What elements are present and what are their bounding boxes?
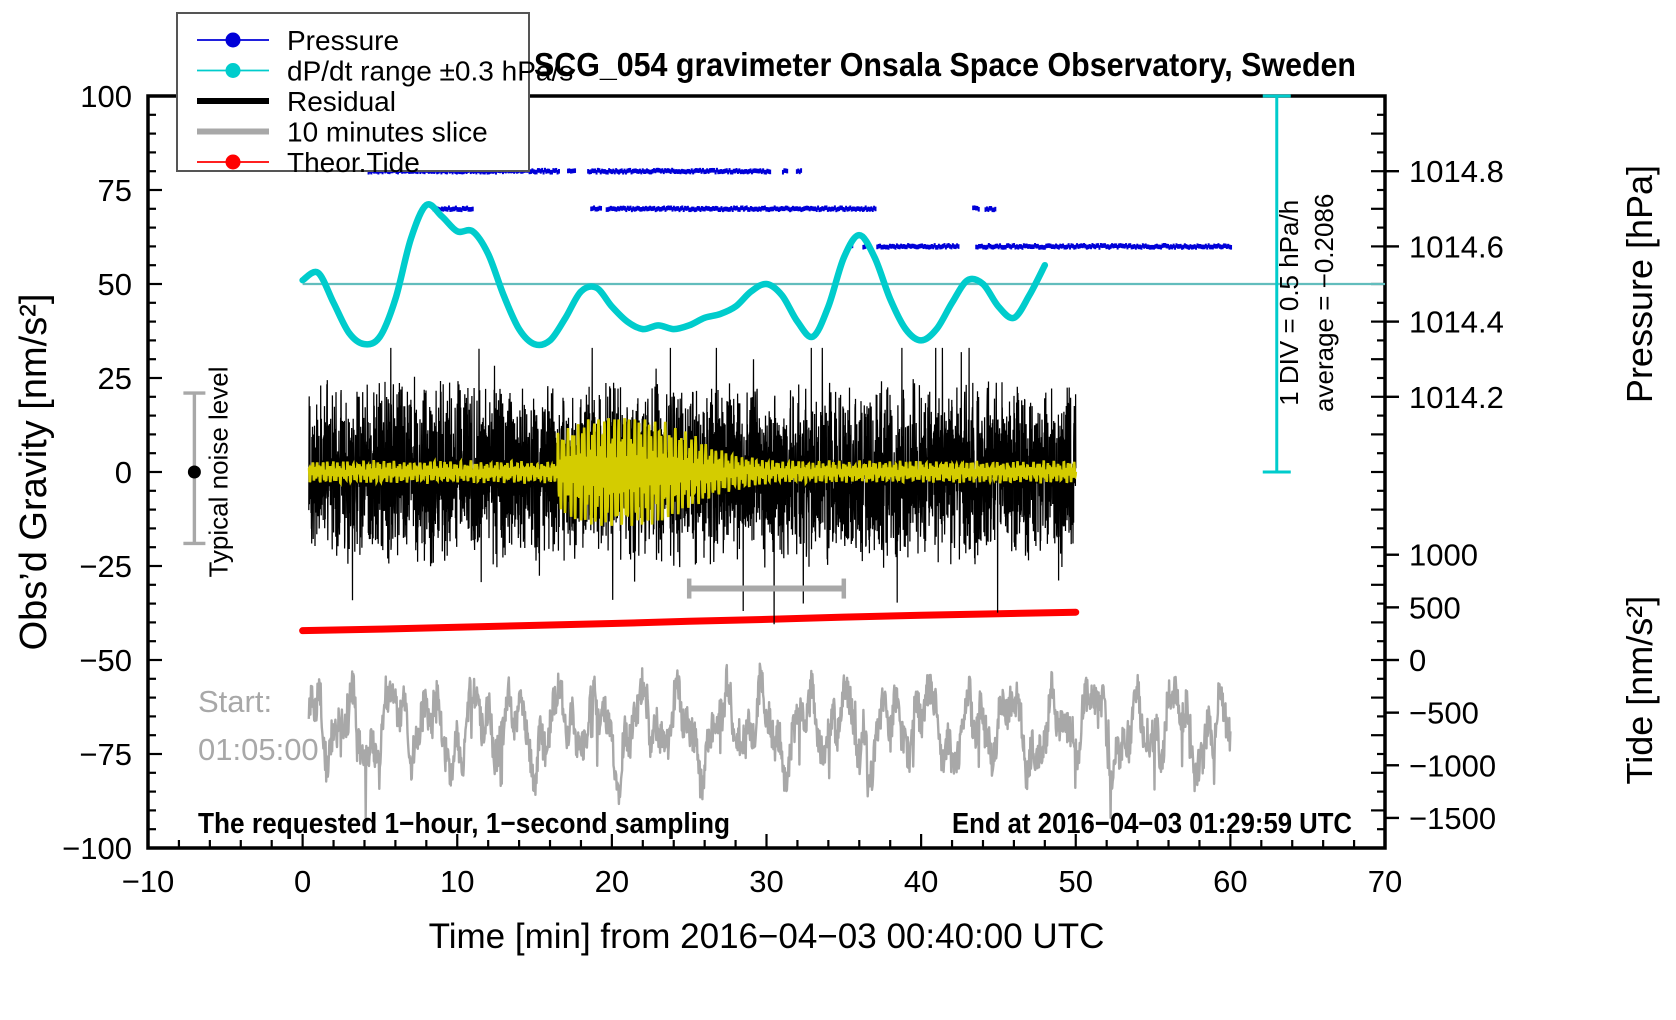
- dpdt-average-label: average = −0.2086: [1309, 194, 1339, 412]
- x-tick-label: 70: [1368, 864, 1402, 899]
- y-tick-label: −75: [79, 737, 132, 772]
- tide-tick-label: −500: [1409, 696, 1479, 731]
- end-note: End at 2016−04−03 01:29:59 UTC: [952, 808, 1352, 840]
- y-tick-label: 75: [98, 173, 132, 208]
- sampling-note: The requested 1−hour, 1−second sampling: [198, 808, 730, 840]
- pressure-sample: [786, 169, 788, 174]
- y-tick-label: −100: [62, 831, 132, 866]
- y-tick-label: 0: [115, 455, 132, 490]
- pressure-tick-label: 1014.6: [1409, 229, 1504, 264]
- chart-title: SCG_054 gravimeter Onsala Space Observat…: [534, 46, 1356, 83]
- x-axis-title: Time [min] from 2016−04−03 00:40:00 UTC: [429, 917, 1105, 956]
- pressure-sample: [1230, 245, 1232, 250]
- legend-label: Pressure: [287, 25, 399, 56]
- pressure-sample: [600, 206, 602, 211]
- pressure-sample: [874, 207, 876, 212]
- pressure-sample: [558, 169, 560, 174]
- noise-level-dot: [188, 466, 201, 479]
- start-label: Start:: [198, 684, 272, 719]
- pressure-sample: [994, 207, 996, 212]
- tide-tick-label: −1500: [1409, 801, 1496, 836]
- pressure-sample: [957, 244, 959, 249]
- legend-marker-dot: [226, 33, 241, 48]
- chart-root: −10010203040506070Time [min] from 2016−0…: [0, 0, 1676, 1020]
- tide-axis-title: Tide [nm/s²]: [1619, 596, 1660, 785]
- legend-label: dP/dt range ±0.3 hPa/s: [287, 56, 573, 87]
- theoretical-tide-line: [303, 612, 1076, 630]
- y-tick-label: 25: [98, 361, 132, 396]
- y-tick-label: −25: [79, 549, 132, 584]
- pressure-sample: [574, 168, 576, 173]
- pressure-tick-label: 1014.4: [1409, 305, 1504, 340]
- pressure-sample: [769, 170, 771, 175]
- tide-tick-label: 0: [1409, 643, 1426, 678]
- x-tick-label: 50: [1059, 864, 1093, 899]
- pressure-tick-label: 1014.8: [1409, 154, 1504, 189]
- legend-label: 10 minutes slice: [287, 117, 488, 148]
- pressure-sample: [472, 207, 474, 212]
- pressure-sample: [978, 207, 980, 212]
- start-time: 01:05:00: [198, 732, 319, 767]
- ten-minute-slice-trace: [309, 664, 1231, 818]
- dpdt-curve: [303, 204, 1045, 345]
- noise-level-label: Typical noise level: [203, 367, 233, 578]
- dpdt-div-label: 1 DIV = 0.5 hPa/h: [1274, 200, 1304, 406]
- tide-tick-label: 1000: [1409, 538, 1478, 573]
- x-tick-label: 30: [749, 864, 783, 899]
- y-tick-label: 100: [80, 79, 132, 114]
- pressure-tick-label: 1014.2: [1409, 380, 1504, 415]
- y-tick-label: 50: [98, 267, 132, 302]
- legend-marker-dot: [226, 155, 241, 170]
- pressure-axis-title: Pressure [hPa]: [1619, 165, 1660, 403]
- x-tick-label: −10: [122, 864, 175, 899]
- legend-label: Residual: [287, 86, 396, 117]
- legend-marker-dot: [226, 63, 241, 78]
- gravimeter-chart: −10010203040506070Time [min] from 2016−0…: [0, 0, 1676, 1020]
- x-tick-label: 40: [904, 864, 938, 899]
- y-tick-label: −50: [79, 643, 132, 678]
- y-axis-title: Obs’d Gravity [nm/s²]: [13, 294, 55, 651]
- legend-label: Theor.Tide: [287, 147, 420, 178]
- tide-tick-label: 500: [1409, 590, 1461, 625]
- x-tick-label: 0: [294, 864, 311, 899]
- x-tick-label: 60: [1213, 864, 1247, 899]
- x-tick-label: 20: [595, 864, 629, 899]
- pressure-band: [848, 243, 1232, 250]
- pressure-sample: [800, 168, 802, 173]
- pressure-band: [433, 205, 997, 212]
- tide-tick-label: −1000: [1409, 748, 1496, 783]
- x-tick-label: 10: [440, 864, 474, 899]
